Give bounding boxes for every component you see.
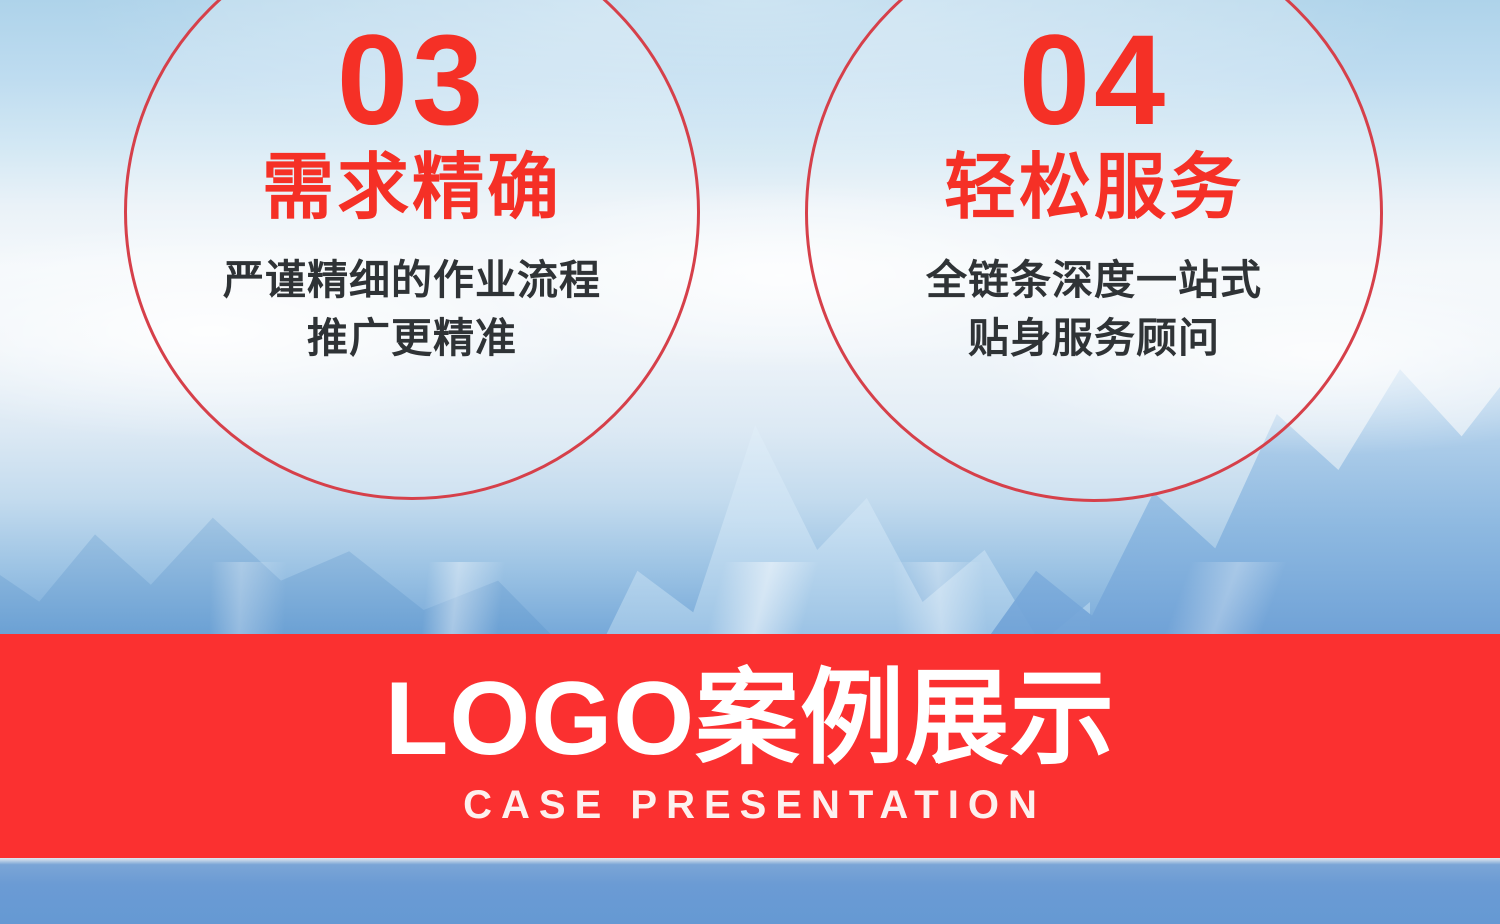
badge-desc-line-2: 贴身服务顾问 xyxy=(808,309,1380,367)
badge-desc-line-2: 推广更精准 xyxy=(127,309,697,367)
banner-title: LOGO案例展示 xyxy=(385,667,1115,771)
badge-heading-03: 需求精确 xyxy=(127,151,697,227)
title-banner: LOGO案例展示 CASE PRESENTATION xyxy=(0,634,1500,858)
badge-desc-line-1: 全链条深度一站式 xyxy=(808,251,1380,309)
banner-subtitle: CASE PRESENTATION xyxy=(454,785,1046,825)
badge-desc-line-1: 严谨精细的作业流程 xyxy=(127,251,697,309)
bottom-blue-strip xyxy=(0,858,1500,924)
badge-description-03: 严谨精细的作业流程 推广更精准 xyxy=(127,251,697,367)
badge-heading-04: 轻松服务 xyxy=(808,151,1380,227)
badge-content-03: 03 需求精确 严谨精细的作业流程 推广更精准 xyxy=(127,17,697,367)
badge-content-04: 04 轻松服务 全链条深度一站式 贴身服务顾问 xyxy=(808,17,1380,367)
badge-description-04: 全链条深度一站式 贴身服务顾问 xyxy=(808,251,1380,367)
badge-number-03: 03 xyxy=(127,17,697,145)
slide-canvas: 03 需求精确 严谨精细的作业流程 推广更精准 04 轻松服务 全链条深度一站式… xyxy=(0,0,1500,924)
badge-number-04: 04 xyxy=(808,17,1380,145)
